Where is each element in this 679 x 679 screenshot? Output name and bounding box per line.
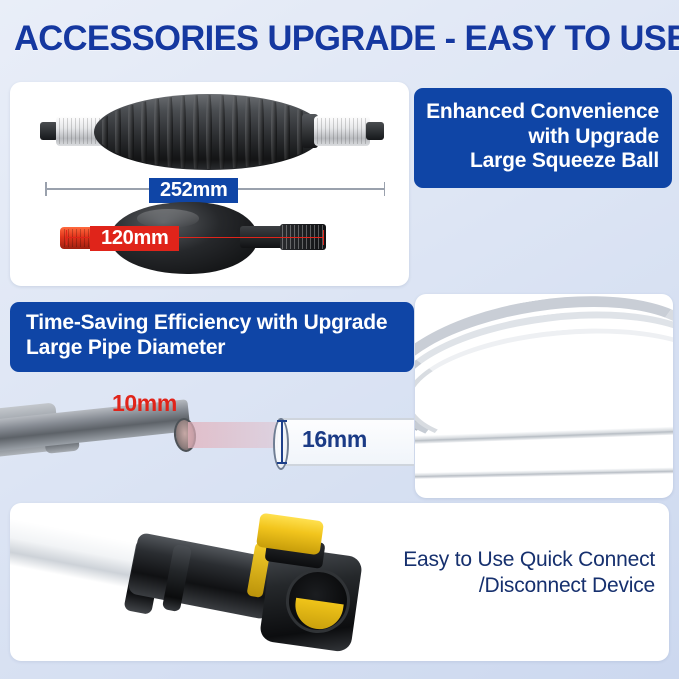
coiled-hose-card (415, 294, 673, 498)
old-squeeze-ball-image: 120mm (42, 200, 382, 276)
pipe-caliper-icon (281, 420, 283, 464)
pump-ribs-icon (96, 95, 322, 169)
banner-line-1: Time-Saving Efficiency with Upgrade (26, 311, 387, 336)
hose-strand-lower-icon (415, 467, 673, 479)
old-pipe-diameter-label: 10mm (112, 390, 177, 417)
new-pipe-diameter-label: 16mm (302, 426, 367, 453)
callout-line-1: Enhanced Convenience (426, 100, 659, 125)
quick-connect-panel: Easy to Use Quick Connect /Disconnect De… (10, 503, 669, 661)
infographic-root: ACCESSORIES UPGRADE - EASY TO USE 252mm (0, 0, 679, 679)
old-dimension-badge: 120mm (90, 226, 179, 251)
squeeze-ball-card: 252mm 120mm (10, 82, 409, 286)
dimension-tick-left (45, 182, 47, 196)
pipe-comparison-area: 10mm 16mm (0, 386, 414, 498)
squeeze-ball-callout-text: Enhanced Convenience with Upgrade Large … (426, 100, 659, 174)
upgraded-dimension-line: 252mm (45, 182, 385, 196)
callout-line-2: with Upgrade (426, 125, 659, 150)
pipe-diameter-banner: Time-Saving Efficiency with Upgrade Larg… (10, 302, 414, 372)
pipe-diameter-banner-text: Time-Saving Efficiency with Upgrade Larg… (26, 311, 387, 361)
caption-line-2: /Disconnect Device (355, 573, 655, 599)
page-title: ACCESSORIES UPGRADE - EASY TO USE (14, 19, 659, 65)
pump-nozzle-right-icon (314, 116, 370, 146)
quick-connect-caption: Easy to Use Quick Connect /Disconnect De… (355, 547, 655, 600)
caption-line-1: Easy to Use Quick Connect (355, 547, 655, 573)
upgraded-squeeze-ball-image (32, 92, 392, 172)
dimension-tick-right (384, 182, 386, 196)
callout-line-3: Large Squeeze Ball (426, 149, 659, 174)
squeeze-ball-callout-panel: Enhanced Convenience with Upgrade Large … (414, 88, 672, 188)
banner-line-2: Large Pipe Diameter (26, 336, 387, 361)
pump-tip-right-icon (366, 122, 384, 140)
